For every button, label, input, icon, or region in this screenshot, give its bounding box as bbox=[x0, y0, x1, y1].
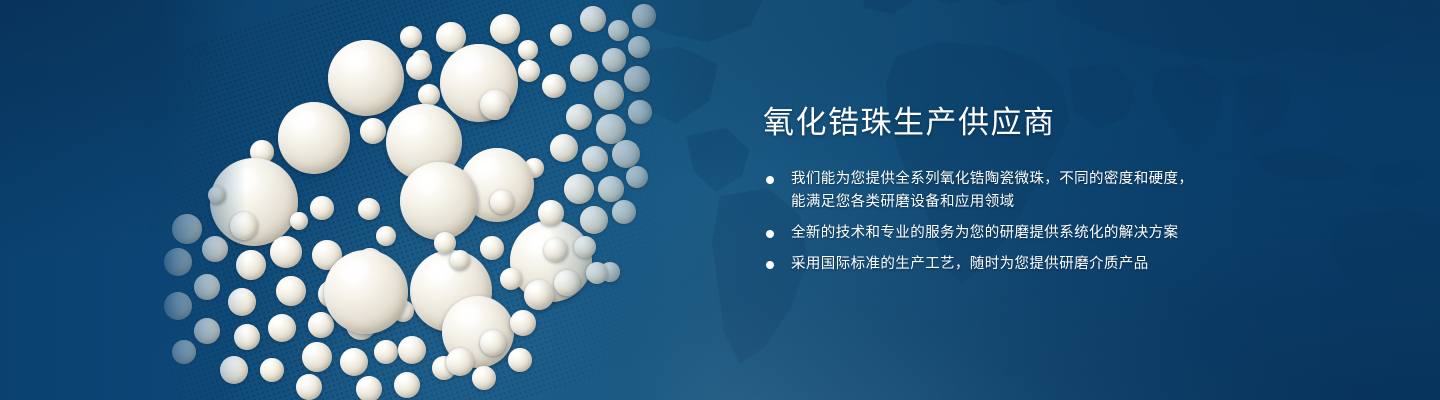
bead bbox=[570, 54, 598, 82]
bead bbox=[582, 146, 608, 172]
bullet-line: 我们能为您提供全系列氧化锆陶瓷微珠，不同的密度和硬度， bbox=[791, 168, 1363, 191]
bead bbox=[260, 358, 284, 382]
bead bbox=[594, 80, 624, 110]
bead bbox=[398, 336, 426, 364]
bead bbox=[270, 236, 302, 268]
bead bbox=[234, 324, 260, 350]
bead bbox=[400, 26, 422, 48]
bead bbox=[164, 292, 192, 320]
banner-bullet-list: 我们能为您提供全系列氧化锆陶瓷微珠，不同的密度和硬度， 能满足您各类研磨设备和应… bbox=[763, 168, 1363, 276]
bead bbox=[566, 104, 592, 130]
bullet-line: 能满足您各类研磨设备和应用领域 bbox=[791, 191, 1363, 214]
bead bbox=[434, 232, 456, 254]
bead bbox=[480, 90, 510, 120]
bead bbox=[524, 280, 554, 310]
bead bbox=[400, 162, 478, 240]
bead bbox=[194, 274, 220, 300]
product-photo-zirconia-beads bbox=[150, 0, 710, 400]
bead bbox=[202, 236, 228, 262]
bead bbox=[628, 36, 650, 58]
bead bbox=[172, 214, 202, 244]
bullet-line: 全新的技术和专业的服务为您的研磨提供系统化的解决方案 bbox=[791, 222, 1363, 245]
bead bbox=[608, 20, 629, 41]
bead bbox=[538, 200, 564, 226]
bead bbox=[550, 134, 578, 162]
bead bbox=[358, 198, 380, 220]
bead bbox=[194, 318, 220, 344]
banner-content: 氧化锆珠生产供应商 我们能为您提供全系列氧化锆陶瓷微珠，不同的密度和硬度， 能满… bbox=[763, 104, 1363, 276]
bead bbox=[418, 84, 440, 106]
bead bbox=[598, 176, 624, 202]
bead bbox=[628, 100, 652, 124]
bead bbox=[472, 366, 496, 390]
bead bbox=[518, 40, 538, 60]
bead bbox=[450, 250, 470, 270]
bead bbox=[268, 314, 296, 342]
bead bbox=[564, 174, 594, 204]
banner-headline: 氧化锆珠生产供应商 bbox=[763, 104, 1363, 142]
bead-cluster bbox=[150, 0, 710, 400]
bead bbox=[208, 186, 226, 204]
bead bbox=[500, 268, 522, 290]
bead bbox=[586, 262, 608, 284]
bead bbox=[236, 250, 266, 280]
bead bbox=[406, 54, 432, 80]
bead bbox=[480, 236, 504, 260]
bead bbox=[328, 40, 404, 116]
bead bbox=[612, 140, 640, 168]
bead bbox=[518, 60, 540, 82]
hero-banner: 氧化锆珠生产供应商 我们能为您提供全系列氧化锆陶瓷微珠，不同的密度和硬度， 能满… bbox=[0, 0, 1440, 400]
bullet-dot-icon bbox=[766, 176, 774, 184]
bullet-item: 采用国际标准的生产工艺，随时为您提供研磨介质产品 bbox=[763, 253, 1363, 276]
bullet-dot-icon bbox=[766, 230, 774, 238]
bead bbox=[310, 196, 334, 220]
bullet-item: 我们能为您提供全系列氧化锆陶瓷微珠，不同的密度和硬度， 能满足您各类研磨设备和应… bbox=[763, 168, 1363, 214]
bead bbox=[296, 374, 322, 400]
bead bbox=[580, 206, 608, 234]
bead bbox=[602, 48, 626, 72]
bead bbox=[510, 310, 536, 336]
bead bbox=[356, 376, 382, 400]
bead bbox=[490, 14, 520, 44]
bead bbox=[302, 342, 332, 372]
bead bbox=[172, 340, 196, 364]
bead bbox=[164, 248, 192, 276]
bead bbox=[580, 6, 606, 32]
bead bbox=[324, 250, 408, 334]
bullet-line: 采用国际标准的生产工艺，随时为您提供研磨介质产品 bbox=[791, 253, 1363, 276]
bead bbox=[446, 348, 474, 376]
bead bbox=[376, 226, 396, 246]
bead bbox=[542, 74, 566, 98]
bead bbox=[220, 356, 248, 384]
bead bbox=[624, 66, 650, 92]
bullet-dot-icon bbox=[766, 261, 774, 269]
bead bbox=[612, 200, 636, 224]
bead bbox=[228, 288, 256, 316]
bullet-item: 全新的技术和专业的服务为您的研磨提供系统化的解决方案 bbox=[763, 222, 1363, 245]
bead bbox=[290, 212, 308, 230]
bead bbox=[276, 276, 306, 306]
bead bbox=[360, 118, 386, 144]
bead bbox=[230, 212, 258, 240]
bead bbox=[632, 4, 656, 28]
bead bbox=[278, 102, 350, 174]
bead bbox=[374, 340, 398, 364]
bead bbox=[626, 166, 648, 188]
bead bbox=[574, 236, 596, 258]
bead bbox=[508, 348, 532, 372]
bead bbox=[544, 238, 568, 262]
bead bbox=[394, 372, 420, 398]
bead bbox=[554, 270, 580, 296]
bead bbox=[340, 348, 368, 376]
bead bbox=[308, 312, 334, 338]
bead bbox=[490, 190, 514, 214]
bead bbox=[480, 330, 506, 356]
bead bbox=[550, 24, 572, 46]
